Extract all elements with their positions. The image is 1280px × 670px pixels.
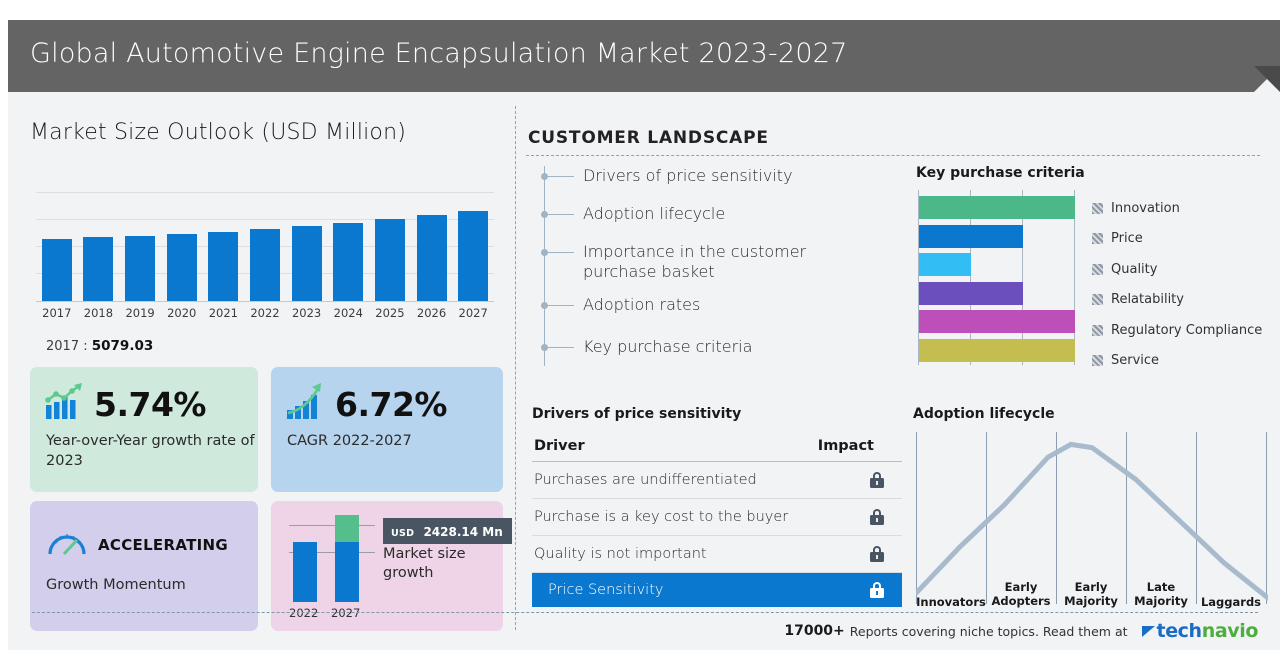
kpc-legend-label: Price — [1111, 231, 1143, 246]
first-year-label: 2017 : — [46, 339, 88, 354]
logo-text-tech: tech — [1157, 620, 1202, 642]
first-year-amount: 5079.03 — [92, 338, 154, 354]
customer-landscape-item-3[interactable]: Importance in the customer purchase bask… — [544, 242, 823, 282]
key-purchase-criteria-chart: Key purchase criteria InnovationPriceQua… — [916, 165, 1266, 380]
hatched-square-icon — [1092, 355, 1103, 366]
adoption-stage-label: LateMajority — [1126, 580, 1196, 609]
yoy-growth-card[interactable]: 5.74% Year-over-Year growth rate of 2023 — [30, 367, 258, 492]
triangle-arrow-icon — [1142, 626, 1155, 637]
kpc-title: Key purchase criteria — [916, 165, 1085, 181]
bar — [125, 236, 155, 301]
hatched-square-icon — [1092, 203, 1103, 214]
lock-icon — [870, 582, 884, 598]
kpc-bar-row — [919, 282, 1023, 305]
kpc-legend-item[interactable]: Price — [1092, 224, 1272, 255]
table-row[interactable]: Price Sensitivity — [532, 573, 902, 607]
lock-icon — [870, 509, 884, 525]
bar — [83, 237, 113, 301]
technavio-logo[interactable]: technavio — [1142, 620, 1258, 642]
adoption-lifecycle-chart: Adoption lifecycle InnovatorsEarlyAdopte… — [913, 406, 1273, 631]
lock-icon — [870, 472, 884, 488]
hatched-square-icon — [1092, 294, 1103, 305]
bar-x-label: 2023 — [286, 306, 328, 320]
adoption-plot-area — [916, 432, 1268, 604]
adoption-title: Adoption lifecycle — [913, 406, 1273, 422]
footer-bar: 17000+ Reports covering niche topics. Re… — [8, 612, 1280, 650]
bar-fill — [250, 229, 280, 301]
speedometer-icon — [46, 527, 88, 562]
column-header-driver: Driver — [534, 438, 585, 454]
header-bar: Global Automotive Engine Encapsulation M… — [8, 20, 1280, 92]
bar-x-label: 2018 — [78, 306, 120, 320]
bar-chart-growth-icon — [44, 383, 84, 426]
kpc-plot-area — [918, 190, 1076, 365]
hatched-square-icon — [1092, 325, 1103, 336]
bar-fill — [83, 237, 113, 301]
bar — [250, 229, 280, 301]
bar-fill — [417, 215, 447, 301]
customer-landscape-item-label: Adoption rates — [583, 295, 700, 315]
market-growth-caption: Market size growth — [383, 545, 493, 583]
connector-line — [548, 347, 574, 348]
bar — [333, 223, 363, 301]
badge-currency: USD — [391, 528, 414, 539]
yoy-caption: Year-over-Year growth rate of 2023 — [30, 426, 258, 471]
adoption-stage-label: Laggards — [1196, 595, 1266, 609]
cagr-card-header: 6.72% — [271, 367, 503, 426]
kpc-legend-label: Quality — [1111, 262, 1157, 277]
driver-name: Quality is not important — [534, 546, 707, 562]
customer-landscape-item-label: Key purchase criteria — [583, 337, 752, 357]
mini-bar-base — [335, 542, 359, 602]
reference-line — [289, 525, 375, 526]
kpc-legend-label: Relatability — [1111, 292, 1184, 307]
kpc-legend: InnovationPriceQualityRelatabilityRegula… — [1092, 193, 1272, 376]
customer-landscape-item-1[interactable]: Drivers of price sensitivity — [544, 166, 793, 186]
bar-x-label: 2019 — [119, 306, 161, 320]
bar — [292, 226, 322, 301]
market-size-title: Market Size Outlook (USD Million) — [30, 120, 406, 145]
bullet-dot-icon — [541, 249, 548, 256]
market-size-panel: Market Size Outlook (USD Million) 201720… — [8, 92, 508, 612]
customer-landscape-item-2[interactable]: Adoption lifecycle — [544, 204, 725, 224]
hatched-square-icon — [1092, 233, 1103, 244]
infographic-canvas: Global Automotive Engine Encapsulation M… — [8, 20, 1280, 650]
driver-name: Price Sensitivity — [548, 582, 663, 598]
gridline — [36, 192, 494, 193]
kpc-bar-innovation — [919, 196, 1075, 219]
adoption-bell-curve — [916, 432, 1268, 604]
table-row[interactable]: Quality is not important — [532, 536, 902, 573]
momentum-status: ACCELERATING — [98, 536, 228, 554]
bar-x-label: 2027 — [452, 306, 494, 320]
bar-chart-x-axis-labels: 2017201820192020202120222023202420252026… — [36, 306, 494, 324]
section-heading-underline — [526, 155, 1260, 156]
cagr-card[interactable]: 6.72% CAGR 2022-2027 — [271, 367, 503, 492]
bar-fill — [125, 236, 155, 301]
drivers-title: Drivers of price sensitivity — [532, 406, 902, 422]
customer-landscape-item-label: Adoption lifecycle — [583, 204, 725, 224]
kpc-bar-row — [919, 339, 1075, 362]
bar-x-label: 2017 — [36, 306, 78, 320]
lock-icon — [870, 546, 884, 562]
mini-bar-2022 — [293, 542, 317, 602]
logo-wordmark: technavio — [1157, 620, 1258, 642]
bar-x-label: 2021 — [203, 306, 245, 320]
kpc-bar-service — [919, 339, 1075, 362]
kpc-legend-item[interactable]: Relatability — [1092, 285, 1272, 316]
kpc-bar-row — [919, 253, 971, 276]
table-header-row: Driver Impact — [532, 438, 902, 462]
page-title: Global Automotive Engine Encapsulation M… — [30, 38, 847, 69]
driver-name: Purchases are undifferentiated — [534, 472, 757, 488]
table-row[interactable]: Purchases are undifferentiated — [532, 462, 902, 499]
kpc-bar-relatability — [919, 282, 1023, 305]
kpc-legend-label: Regulatory Compliance — [1111, 323, 1262, 338]
bar-x-label: 2026 — [411, 306, 453, 320]
bar-fill — [333, 223, 363, 301]
momentum-caption: Growth Momentum — [30, 562, 258, 596]
adoption-stage-label: EarlyAdopters — [986, 580, 1056, 609]
bar-fill — [42, 239, 72, 301]
bar-x-label: 2024 — [327, 306, 369, 320]
cagr-caption: CAGR 2022-2027 — [271, 426, 503, 452]
bullet-dot-icon — [541, 173, 548, 180]
kpc-legend-label: Service — [1111, 353, 1159, 368]
mini-bar-2027 — [335, 515, 359, 602]
bar-chart-arrow-icon — [285, 383, 325, 426]
logo-text-navio: navio — [1202, 620, 1258, 642]
bar-fill — [458, 211, 488, 301]
connector-line — [548, 252, 574, 253]
customer-landscape-list: Drivers of price sensitivityAdoption lif… — [544, 162, 904, 377]
customer-landscape-item-4[interactable]: Adoption rates — [544, 295, 700, 315]
kpc-bar-row — [919, 225, 1023, 248]
footer-tagline: Reports covering niche topics. Read them… — [850, 624, 1128, 639]
kpc-bar-row — [919, 196, 1075, 219]
adoption-stage-label: Innovators — [916, 595, 986, 609]
bar-x-label: 2025 — [369, 306, 411, 320]
bar — [42, 239, 72, 301]
market-growth-badge: USD 2428.14 Mn — [383, 518, 512, 544]
first-year-value-readout: 2017 : 5079.03 — [46, 338, 153, 354]
market-size-bar-chart — [36, 192, 494, 302]
kpc-bar-price — [919, 225, 1023, 248]
vertical-divider — [515, 106, 516, 630]
bullet-dot-icon — [541, 344, 548, 351]
connector-line — [548, 305, 574, 306]
yoy-card-header: 5.74% — [30, 367, 258, 426]
yoy-value: 5.74% — [94, 385, 206, 424]
bar-fill — [375, 219, 405, 301]
customer-landscape-item-5[interactable]: Key purchase criteria — [544, 337, 752, 357]
market-growth-mini-chart: 2022 2027 — [289, 515, 379, 620]
kpc-bar-row — [919, 310, 1075, 333]
customer-landscape-item-label: Drivers of price sensitivity — [583, 166, 793, 186]
report-count: 17000+ — [784, 623, 844, 639]
bar — [458, 211, 488, 301]
hatched-square-icon — [1092, 264, 1103, 275]
kpc-legend-label: Innovation — [1111, 201, 1180, 216]
table-row[interactable]: Purchase is a key cost to the buyer — [532, 499, 902, 536]
bar — [375, 219, 405, 301]
bar — [208, 232, 238, 301]
bar-x-label: 2022 — [244, 306, 286, 320]
badge-amount: 2428.14 Mn — [423, 525, 502, 539]
connector-line — [548, 214, 574, 215]
kpc-legend-item[interactable]: Innovation — [1092, 193, 1272, 224]
chart-baseline — [36, 301, 494, 302]
kpc-bar-regulatory-compliance — [919, 310, 1075, 333]
customer-landscape-heading: CUSTOMER LANDSCAPE — [528, 128, 769, 148]
customer-landscape-item-label: Importance in the customer purchase bask… — [583, 242, 823, 282]
table-body: Purchases are undifferentiatedPurchase i… — [532, 462, 902, 607]
bar-fill — [292, 226, 322, 301]
corner-fold-decoration — [1254, 66, 1280, 92]
driver-name: Purchase is a key cost to the buyer — [534, 509, 788, 525]
adoption-stage-label: EarlyMajority — [1056, 580, 1126, 609]
column-header-impact: Impact — [818, 438, 874, 454]
bar-fill — [167, 234, 197, 301]
kpc-legend-item[interactable]: Service — [1092, 346, 1272, 377]
momentum-card-header: ACCELERATING — [30, 501, 258, 562]
mini-bar-base — [293, 542, 317, 602]
cagr-value: 6.72% — [335, 385, 447, 424]
bullet-dot-icon — [541, 302, 548, 309]
bar-fill — [208, 232, 238, 301]
bullet-dot-icon — [541, 211, 548, 218]
drivers-of-price-sensitivity-table: Drivers of price sensitivity Driver Impa… — [532, 406, 902, 607]
bar — [417, 215, 447, 301]
kpc-legend-item[interactable]: Regulatory Compliance — [1092, 315, 1272, 346]
bar — [167, 234, 197, 301]
mini-bar-growth — [335, 515, 359, 542]
kpc-legend-item[interactable]: Quality — [1092, 254, 1272, 285]
connector-line — [548, 176, 574, 177]
bar-x-label: 2020 — [161, 306, 203, 320]
kpc-bar-quality — [919, 253, 971, 276]
